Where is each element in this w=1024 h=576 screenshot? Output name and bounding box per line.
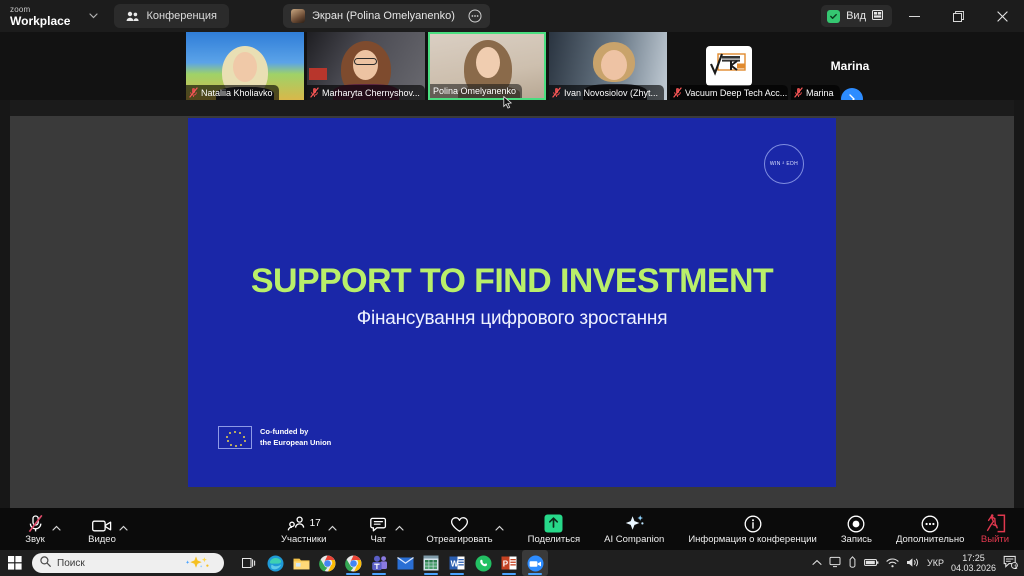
search-icon bbox=[40, 556, 51, 570]
chat-button[interactable]: Чат bbox=[363, 514, 393, 545]
presentation-slide: WIN ² EDH SUPPORT TO FIND INVESTMENT Фін… bbox=[188, 118, 836, 487]
slide-title: SUPPORT TO FIND INVESTMENT bbox=[188, 262, 836, 301]
tab-meeting[interactable]: Конференция bbox=[114, 4, 228, 28]
stage-top-band bbox=[0, 100, 1024, 116]
participant-name: Marina bbox=[806, 88, 834, 98]
people-icon bbox=[126, 11, 139, 22]
clock-time: 17:25 bbox=[951, 553, 996, 563]
filmstrip-tiles: Nataliia Kholiavko Marharyta Chernyshov.… bbox=[186, 32, 909, 100]
participant-tile[interactable]: Vacuum Deep Tech Acc... bbox=[670, 32, 788, 100]
audio-button[interactable]: Звук bbox=[20, 514, 50, 545]
slide-subtitle: Фінансування цифрового зростання bbox=[188, 308, 836, 330]
camera-icon bbox=[92, 514, 112, 533]
powerpoint-icon[interactable]: P bbox=[496, 550, 522, 576]
participant-name: Ivan Novosiolov (Zhyt... bbox=[564, 88, 658, 98]
clock-date: 04.03.2026 bbox=[951, 563, 996, 573]
search-input[interactable]: Поиск bbox=[32, 553, 224, 573]
zoom-meeting-toolbar: Звук Видео bbox=[0, 508, 1024, 550]
video-button[interactable]: Видео bbox=[87, 514, 117, 545]
restore-icon[interactable] bbox=[936, 0, 980, 32]
reactions-button[interactable]: Отреагировать bbox=[426, 514, 492, 545]
task-view-icon[interactable] bbox=[236, 550, 262, 576]
video-options-chevron-icon[interactable] bbox=[119, 524, 128, 533]
zoom-logo: zoom Workplace bbox=[10, 6, 70, 27]
stage-left-band bbox=[0, 100, 10, 508]
eu-funding-logo: Co-funded by the European Union bbox=[218, 426, 331, 449]
chat-icon bbox=[370, 514, 387, 533]
participants-count: 17 bbox=[310, 518, 321, 529]
minimize-icon[interactable] bbox=[892, 0, 936, 32]
view-button[interactable]: Вид bbox=[821, 5, 892, 27]
meeting-info-button[interactable]: Информация о конференции bbox=[688, 514, 817, 545]
ai-companion-button-label: AI Companion bbox=[604, 534, 664, 545]
participants-button[interactable]: 17 Участники bbox=[281, 514, 326, 545]
reactions-heart-icon bbox=[450, 514, 469, 533]
view-button-label: Вид bbox=[846, 10, 866, 22]
share-screen-button-label: Поделиться bbox=[528, 534, 580, 545]
eu-funding-text: Co-funded by the European Union bbox=[260, 427, 331, 447]
audio-button-label: Звук bbox=[25, 534, 44, 545]
title-bar: zoom Workplace Конференция Экран (Polina… bbox=[0, 0, 1024, 32]
more-options-icon[interactable] bbox=[466, 7, 484, 25]
stage-right-band bbox=[1014, 100, 1024, 508]
leave-meeting-icon bbox=[984, 514, 1006, 533]
participant-tile[interactable]: Ivan Novosiolov (Zhyt... bbox=[549, 32, 667, 100]
participant-name: Marharyta Chernyshov... bbox=[322, 88, 420, 98]
close-icon[interactable] bbox=[980, 0, 1024, 32]
share-screen-icon bbox=[544, 514, 563, 533]
clock[interactable]: 17:25 04.03.2026 bbox=[951, 553, 996, 574]
display-icon[interactable] bbox=[829, 556, 841, 570]
chrome-pinned-icon[interactable] bbox=[314, 550, 340, 576]
chevron-up-icon[interactable] bbox=[812, 558, 822, 568]
svg-text:W: W bbox=[451, 559, 459, 568]
microphone-muted-icon bbox=[794, 87, 803, 98]
language-indicator[interactable]: УКР bbox=[927, 558, 944, 568]
chat-control-group: Чат bbox=[363, 514, 404, 545]
svg-text:P: P bbox=[503, 559, 509, 568]
chrome-icon[interactable] bbox=[340, 550, 366, 576]
notification-count: 1 bbox=[1014, 565, 1017, 571]
security-shield-icon bbox=[827, 10, 840, 23]
chat-button-label: Чат bbox=[371, 534, 387, 545]
tab-shared-screen-label: Экран (Polina Omelyanenko) bbox=[312, 10, 455, 22]
eu-line-1: Co-funded by bbox=[260, 427, 331, 437]
reactions-options-chevron-icon[interactable] bbox=[495, 524, 504, 533]
tab-meeting-label: Конференция bbox=[146, 10, 216, 22]
participant-name: Polina Omelyanenko bbox=[433, 86, 516, 96]
ai-companion-button[interactable]: AI Companion bbox=[604, 514, 664, 545]
reactions-control-group: Отреагировать bbox=[426, 514, 503, 545]
zoom-icon[interactable] bbox=[522, 550, 548, 576]
mouse-cursor bbox=[503, 96, 512, 109]
record-icon bbox=[847, 514, 865, 533]
notifications-icon[interactable]: 1 bbox=[1003, 555, 1018, 571]
more-ellipsis-icon bbox=[921, 514, 939, 533]
participant-tile[interactable]: Marharyta Chernyshov... bbox=[307, 32, 425, 100]
wifi-icon[interactable] bbox=[886, 557, 899, 570]
outlook-icon[interactable] bbox=[392, 550, 418, 576]
microphone-muted-icon bbox=[552, 87, 561, 98]
edge-icon[interactable] bbox=[262, 550, 288, 576]
audio-options-chevron-icon[interactable] bbox=[52, 524, 61, 533]
participants-icon: 17 bbox=[287, 514, 321, 533]
search-placeholder: Поиск bbox=[57, 558, 85, 569]
participants-button-label: Участники bbox=[281, 534, 326, 545]
pen-icon[interactable] bbox=[848, 556, 857, 570]
brand-top: zoom bbox=[10, 6, 70, 14]
chevron-down-icon[interactable] bbox=[82, 5, 104, 27]
participants-options-chevron-icon[interactable] bbox=[328, 524, 337, 533]
audio-control-group: Звук bbox=[20, 514, 61, 545]
record-button-label: Запись bbox=[841, 534, 872, 545]
file-explorer-icon[interactable] bbox=[288, 550, 314, 576]
participant-name-badge: Marina bbox=[791, 85, 840, 100]
microphone-muted-icon bbox=[27, 514, 44, 533]
reactions-button-label: Отреагировать bbox=[426, 534, 492, 545]
participant-filmstrip: Nataliia Kholiavko Marharyta Chernyshov.… bbox=[0, 32, 1024, 100]
window-controls-group: Вид bbox=[821, 0, 1024, 32]
microphone-muted-icon bbox=[673, 87, 682, 98]
volume-icon[interactable] bbox=[906, 557, 920, 570]
participant-name-badge: Vacuum Deep Tech Acc... bbox=[670, 85, 788, 100]
participant-name-badge: Ivan Novosiolov (Zhyt... bbox=[549, 85, 664, 100]
battery-icon[interactable] bbox=[864, 558, 879, 569]
excel-icon[interactable] bbox=[418, 550, 444, 576]
tab-shared-screen[interactable]: Экран (Polina Omelyanenko) bbox=[283, 4, 490, 28]
more-button[interactable]: Дополнительно bbox=[896, 514, 964, 545]
vac-logo-icon bbox=[706, 46, 752, 86]
microphone-muted-icon bbox=[310, 87, 319, 98]
participant-tile[interactable]: Nataliia Kholiavko bbox=[186, 32, 304, 100]
participant-tile-active[interactable]: Polina Omelyanenko bbox=[428, 32, 546, 100]
participant-name-badge: Nataliia Kholiavko bbox=[186, 85, 279, 100]
system-tray: УКР 17:25 04.03.2026 1 bbox=[812, 550, 1024, 576]
more-button-label: Дополнительно bbox=[896, 534, 964, 545]
windows-start-icon[interactable] bbox=[0, 550, 30, 576]
word-icon[interactable]: W bbox=[444, 550, 470, 576]
info-icon bbox=[744, 514, 762, 533]
video-control-group: Видео bbox=[87, 514, 128, 545]
brand-bottom: Workplace bbox=[10, 15, 70, 27]
windows-taskbar: Поиск bbox=[0, 550, 1024, 576]
participant-name: Vacuum Deep Tech Acc... bbox=[685, 88, 787, 98]
whatsapp-icon[interactable] bbox=[470, 550, 496, 576]
win-edh-logo-text: WIN ² EDH bbox=[770, 161, 798, 167]
eu-flag-icon bbox=[218, 426, 252, 449]
copilot-sparkle-icon[interactable] bbox=[176, 554, 220, 573]
chat-options-chevron-icon[interactable] bbox=[395, 524, 404, 533]
teams-icon[interactable] bbox=[366, 550, 392, 576]
leave-meeting-label: Выйти bbox=[981, 534, 1009, 545]
eu-line-2: the European Union bbox=[260, 438, 331, 448]
share-screen-button[interactable]: Поделиться bbox=[528, 514, 580, 545]
video-button-label: Видео bbox=[88, 534, 116, 545]
ai-sparkle-icon bbox=[624, 514, 645, 533]
participant-name-badge: Marharyta Chernyshov... bbox=[307, 85, 425, 100]
participant-name: Nataliia Kholiavko bbox=[201, 88, 273, 98]
leave-meeting-button[interactable]: Выйти bbox=[980, 514, 1010, 545]
participants-control-group: 17 Участники bbox=[281, 514, 337, 545]
record-button[interactable]: Запись bbox=[841, 514, 872, 545]
win-edh-logo: WIN ² EDH bbox=[764, 144, 804, 184]
zoom-meeting-window: zoom Workplace Конференция Экран (Polina… bbox=[0, 0, 1024, 576]
shared-screen-thumbnail bbox=[291, 9, 305, 23]
layout-icon bbox=[872, 10, 883, 23]
meeting-info-button-label: Информация о конференции bbox=[688, 534, 817, 545]
microphone-muted-icon bbox=[189, 87, 198, 98]
